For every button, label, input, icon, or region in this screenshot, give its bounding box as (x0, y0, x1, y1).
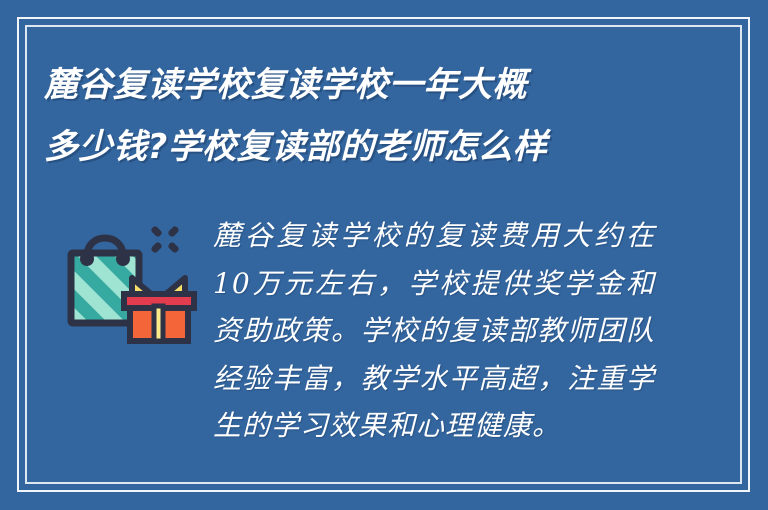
body-copy-block: 麓谷复读学校的复读费用大约在10万元左右，学校提供奖学金和资助政策。学校的复读部… (213, 212, 655, 450)
shopping-bag-and-gift-illustration (58, 218, 198, 344)
poster-canvas: 麓谷复读学校复读学校一年大概 多少钱?学校复读部的老师怎么样 (0, 0, 768, 510)
headline-line-1: 麓谷复读学校复读学校一年大概 (44, 54, 684, 116)
body-paragraph: 麓谷复读学校的复读费用大约在10万元左右，学校提供奖学金和资助政策。学校的复读部… (213, 212, 655, 450)
sparkle-icon (150, 225, 180, 254)
gift-box-icon (124, 278, 194, 341)
headline-line-2: 多少钱?学校复读部的老师怎么样 (44, 116, 684, 178)
headline-block: 麓谷复读学校复读学校一年大概 多少钱?学校复读部的老师怎么样 (44, 54, 684, 178)
